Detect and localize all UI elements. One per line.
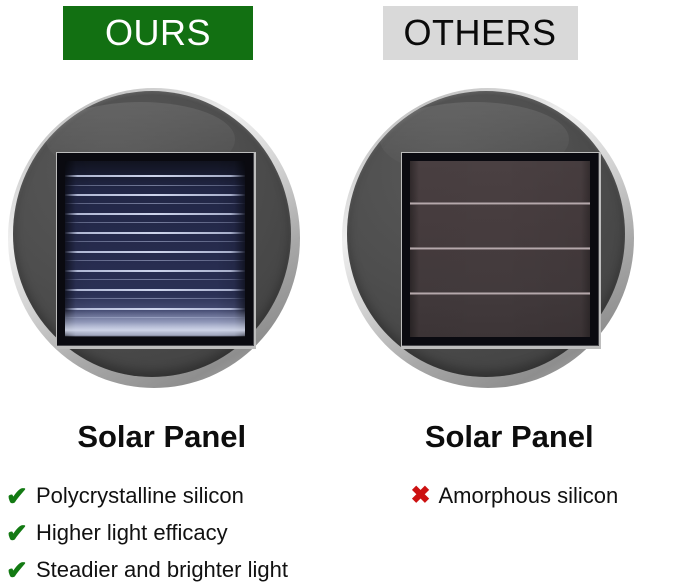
- busbar-line: [65, 298, 245, 299]
- busbar-line: [65, 194, 245, 196]
- feature-list-ours: ✔ Polycrystalline silicon ✔ Higher light…: [6, 477, 288, 588]
- busbar-line: [65, 222, 245, 223]
- feature-item: ✔ Higher light efficacy: [6, 514, 288, 551]
- product-title-others: Solar Panel: [340, 421, 679, 452]
- product-comparison-graphic: OURS: [0, 0, 679, 587]
- busbar-line: [65, 289, 245, 291]
- busbar-line: [65, 260, 245, 261]
- comparison-column-others: OTHERS Solar Panel ✖ Amorp: [340, 0, 679, 587]
- cell-divider-line: [410, 292, 590, 295]
- busbar-line: [65, 279, 245, 280]
- badge-ours-label: OURS: [105, 15, 211, 51]
- busbar-line: [65, 175, 245, 177]
- busbar-line: [65, 213, 245, 215]
- panel-frame: [57, 153, 254, 346]
- busbar-line: [65, 241, 245, 242]
- check-icon: ✔: [6, 520, 36, 546]
- busbar-line: [65, 270, 245, 272]
- feature-label: Higher light efficacy: [36, 520, 228, 546]
- product-title-ours: Solar Panel: [0, 421, 332, 452]
- comparison-column-ours: OURS: [0, 0, 340, 587]
- badge-others-label: OTHERS: [403, 15, 556, 51]
- feature-item: ✔ Polycrystalline silicon: [6, 477, 288, 514]
- cell-divider-line: [410, 247, 590, 250]
- cross-icon: ✖: [411, 484, 439, 508]
- lamp-disc-others: [342, 88, 634, 388]
- feature-label: Polycrystalline silicon: [36, 483, 244, 509]
- lamp-disc-ours: [8, 88, 300, 388]
- badge-others: OTHERS: [383, 6, 578, 60]
- panel-frame: [402, 153, 599, 346]
- polycrystalline-cell-surface: [65, 161, 245, 337]
- feature-item: ✖ Amorphous silicon: [411, 477, 619, 514]
- feature-label: Amorphous silicon: [439, 483, 619, 509]
- feature-label: Steadier and brighter light: [36, 557, 288, 583]
- solar-panel-module-others: [401, 152, 601, 349]
- busbar-line: [65, 251, 245, 253]
- badge-ours: OURS: [63, 6, 253, 60]
- check-icon: ✔: [6, 557, 36, 583]
- feature-list-others: ✖ Amorphous silicon: [411, 477, 619, 514]
- solar-panel-module-ours: [56, 152, 256, 349]
- amorphous-cell-surface: [410, 161, 590, 337]
- feature-item: ✔ Steadier and brighter light: [6, 551, 288, 588]
- busbar-line: [65, 185, 245, 186]
- cell-divider-line: [410, 202, 590, 205]
- check-icon: ✔: [6, 483, 36, 509]
- panel-bottom-glow: [65, 310, 245, 336]
- busbar-line: [65, 203, 245, 204]
- busbar-line: [65, 232, 245, 234]
